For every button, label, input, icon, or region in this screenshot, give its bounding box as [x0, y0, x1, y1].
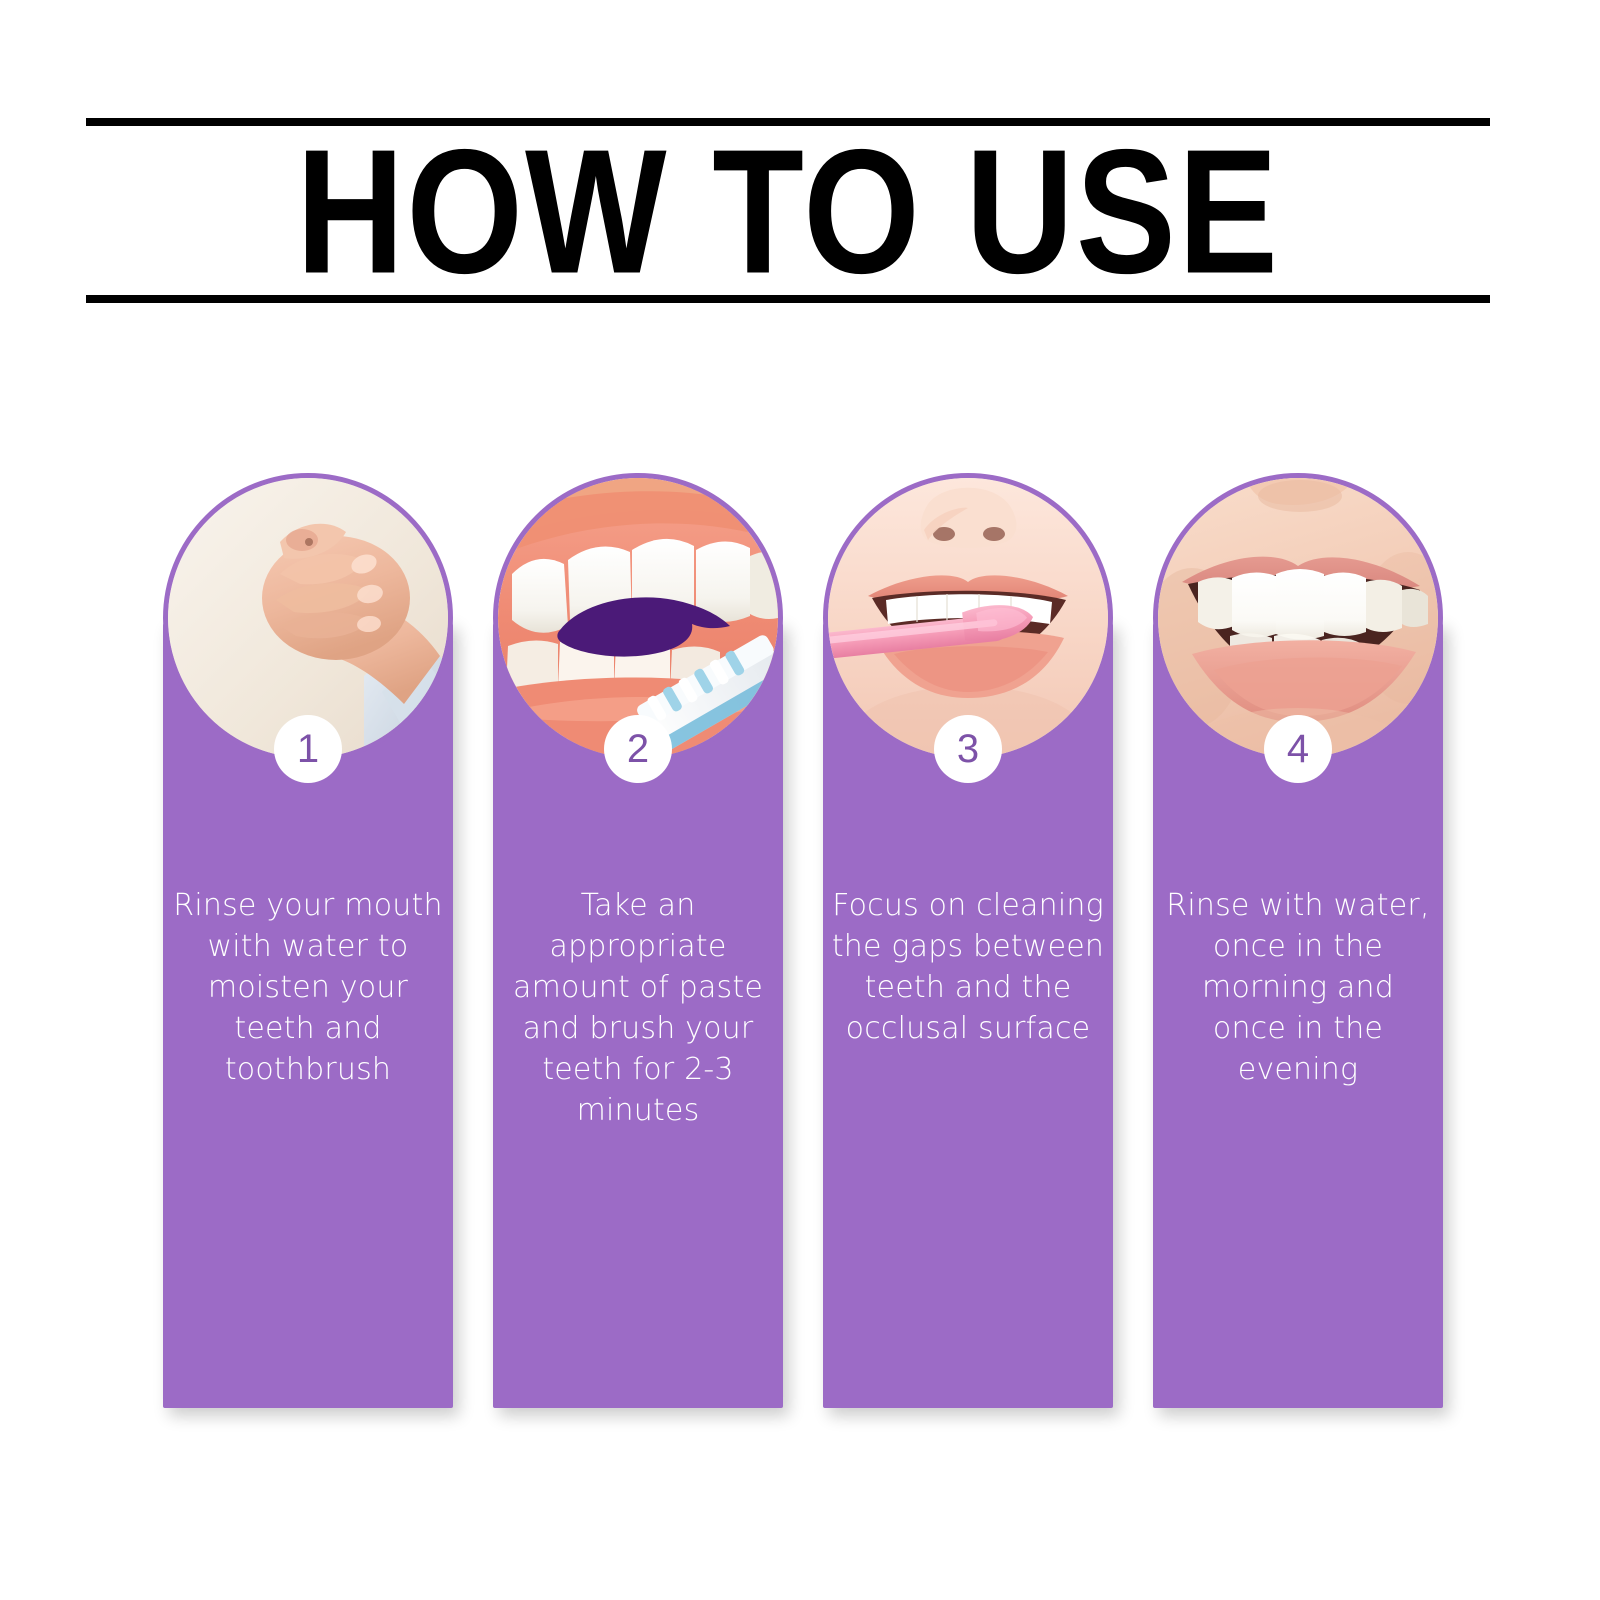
step-1-number-badge: 1 [274, 715, 342, 783]
step-3-caption: Focus on cleaning the gaps between teeth… [831, 885, 1105, 1049]
title-block: HOW TO USE [86, 118, 1490, 303]
step-4-number-badge: 4 [1264, 715, 1332, 783]
step-card-3: 3 Focus on cleaning the gaps between tee… [823, 473, 1113, 1408]
step-1-caption: Rinse your mouth with water to moisten y… [171, 885, 445, 1090]
step-card-4: 4 Rinse with water, once in the morning … [1153, 473, 1443, 1408]
step-3-number-badge: 3 [934, 715, 1002, 783]
page-title: HOW TO USE [86, 106, 1490, 315]
step-1-number: 1 [297, 729, 319, 769]
step-4-number: 4 [1287, 729, 1309, 769]
step-3-number: 3 [957, 729, 979, 769]
steps-row: 1 Rinse your mouth with water to moisten… [163, 473, 1443, 1408]
title-rule-bottom [86, 295, 1490, 303]
step-2-number-badge: 2 [604, 715, 672, 783]
step-4-caption: Rinse with water, once in the morning an… [1161, 885, 1435, 1090]
step-2-number: 2 [627, 729, 649, 769]
step-card-2: 2 Take an appropriate amount of paste an… [493, 473, 783, 1408]
step-card-1: 1 Rinse your mouth with water to moisten… [163, 473, 453, 1408]
how-to-use-infographic: HOW TO USE [0, 0, 1600, 1600]
step-2-caption: Take an appropriate amount of paste and … [501, 885, 775, 1132]
